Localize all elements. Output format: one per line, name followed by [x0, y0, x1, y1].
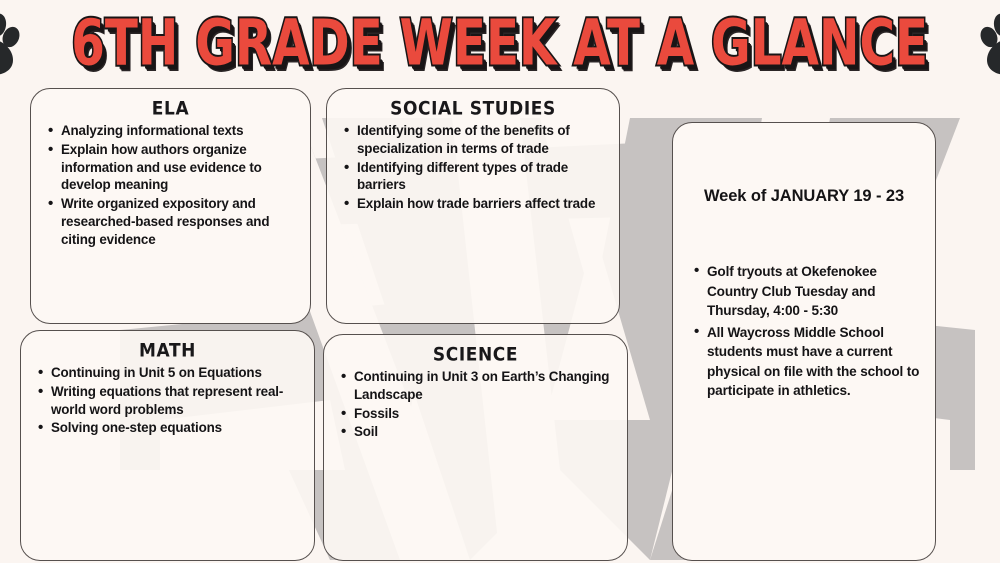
page-header: 6TH GRADE WEEK AT A GLANCE: [0, 0, 1000, 88]
list-item: Solving one-step equations: [51, 419, 304, 437]
list-item: Continuing in Unit 5 on Equations: [51, 364, 304, 382]
page-title: 6TH GRADE WEEK AT A GLANCE: [72, 12, 929, 75]
subject-card-ela: ELA Analyzing informational texts Explai…: [30, 88, 311, 324]
bullet-list-math: Continuing in Unit 5 on Equations Writin…: [21, 364, 314, 437]
bullet-list-announcements: Golf tryouts at Okefenokee Country Club …: [673, 262, 935, 401]
list-item: Analyzing informational texts: [61, 122, 300, 140]
bullet-list-ela: Analyzing informational texts Explain ho…: [31, 122, 310, 249]
card-title-social-studies: SOCIAL STUDIES: [327, 98, 619, 120]
card-title-ela: ELA: [31, 98, 310, 120]
list-item: Explain how authors organize information…: [61, 141, 300, 194]
list-item: Golf tryouts at Okefenokee Country Club …: [707, 262, 921, 321]
subject-card-math: MATH Continuing in Unit 5 on Equations W…: [20, 330, 315, 561]
week-heading: Week of JANUARY 19 - 23: [679, 187, 929, 206]
list-item: Explain how trade barriers affect trade: [357, 195, 609, 213]
paw-print-icon: [979, 11, 1000, 77]
list-item: Fossils: [354, 405, 617, 423]
list-item: Identifying different types of trade bar…: [357, 159, 609, 195]
list-item: Identifying some of the benefits of spec…: [357, 122, 609, 158]
list-item: Soil: [354, 423, 617, 441]
bullet-list-social-studies: Identifying some of the benefits of spec…: [327, 122, 619, 213]
list-item: Writing equations that represent real-wo…: [51, 383, 304, 419]
card-title-science: SCIENCE: [324, 344, 627, 366]
subject-card-social-studies: SOCIAL STUDIES Identifying some of the b…: [326, 88, 620, 324]
list-item: All Waycross Middle School students must…: [707, 323, 921, 401]
bullet-list-science: Continuing in Unit 3 on Earth’s Changing…: [324, 368, 627, 441]
week-announcements-panel: Week of JANUARY 19 - 23 Golf tryouts at …: [672, 122, 936, 561]
card-title-math: MATH: [21, 340, 314, 362]
list-item: Continuing in Unit 3 on Earth’s Changing…: [354, 368, 617, 404]
list-item: Write organized expository and researche…: [61, 195, 300, 248]
subject-card-science: SCIENCE Continuing in Unit 3 on Earth’s …: [323, 334, 628, 561]
paw-print-icon: [0, 11, 21, 77]
